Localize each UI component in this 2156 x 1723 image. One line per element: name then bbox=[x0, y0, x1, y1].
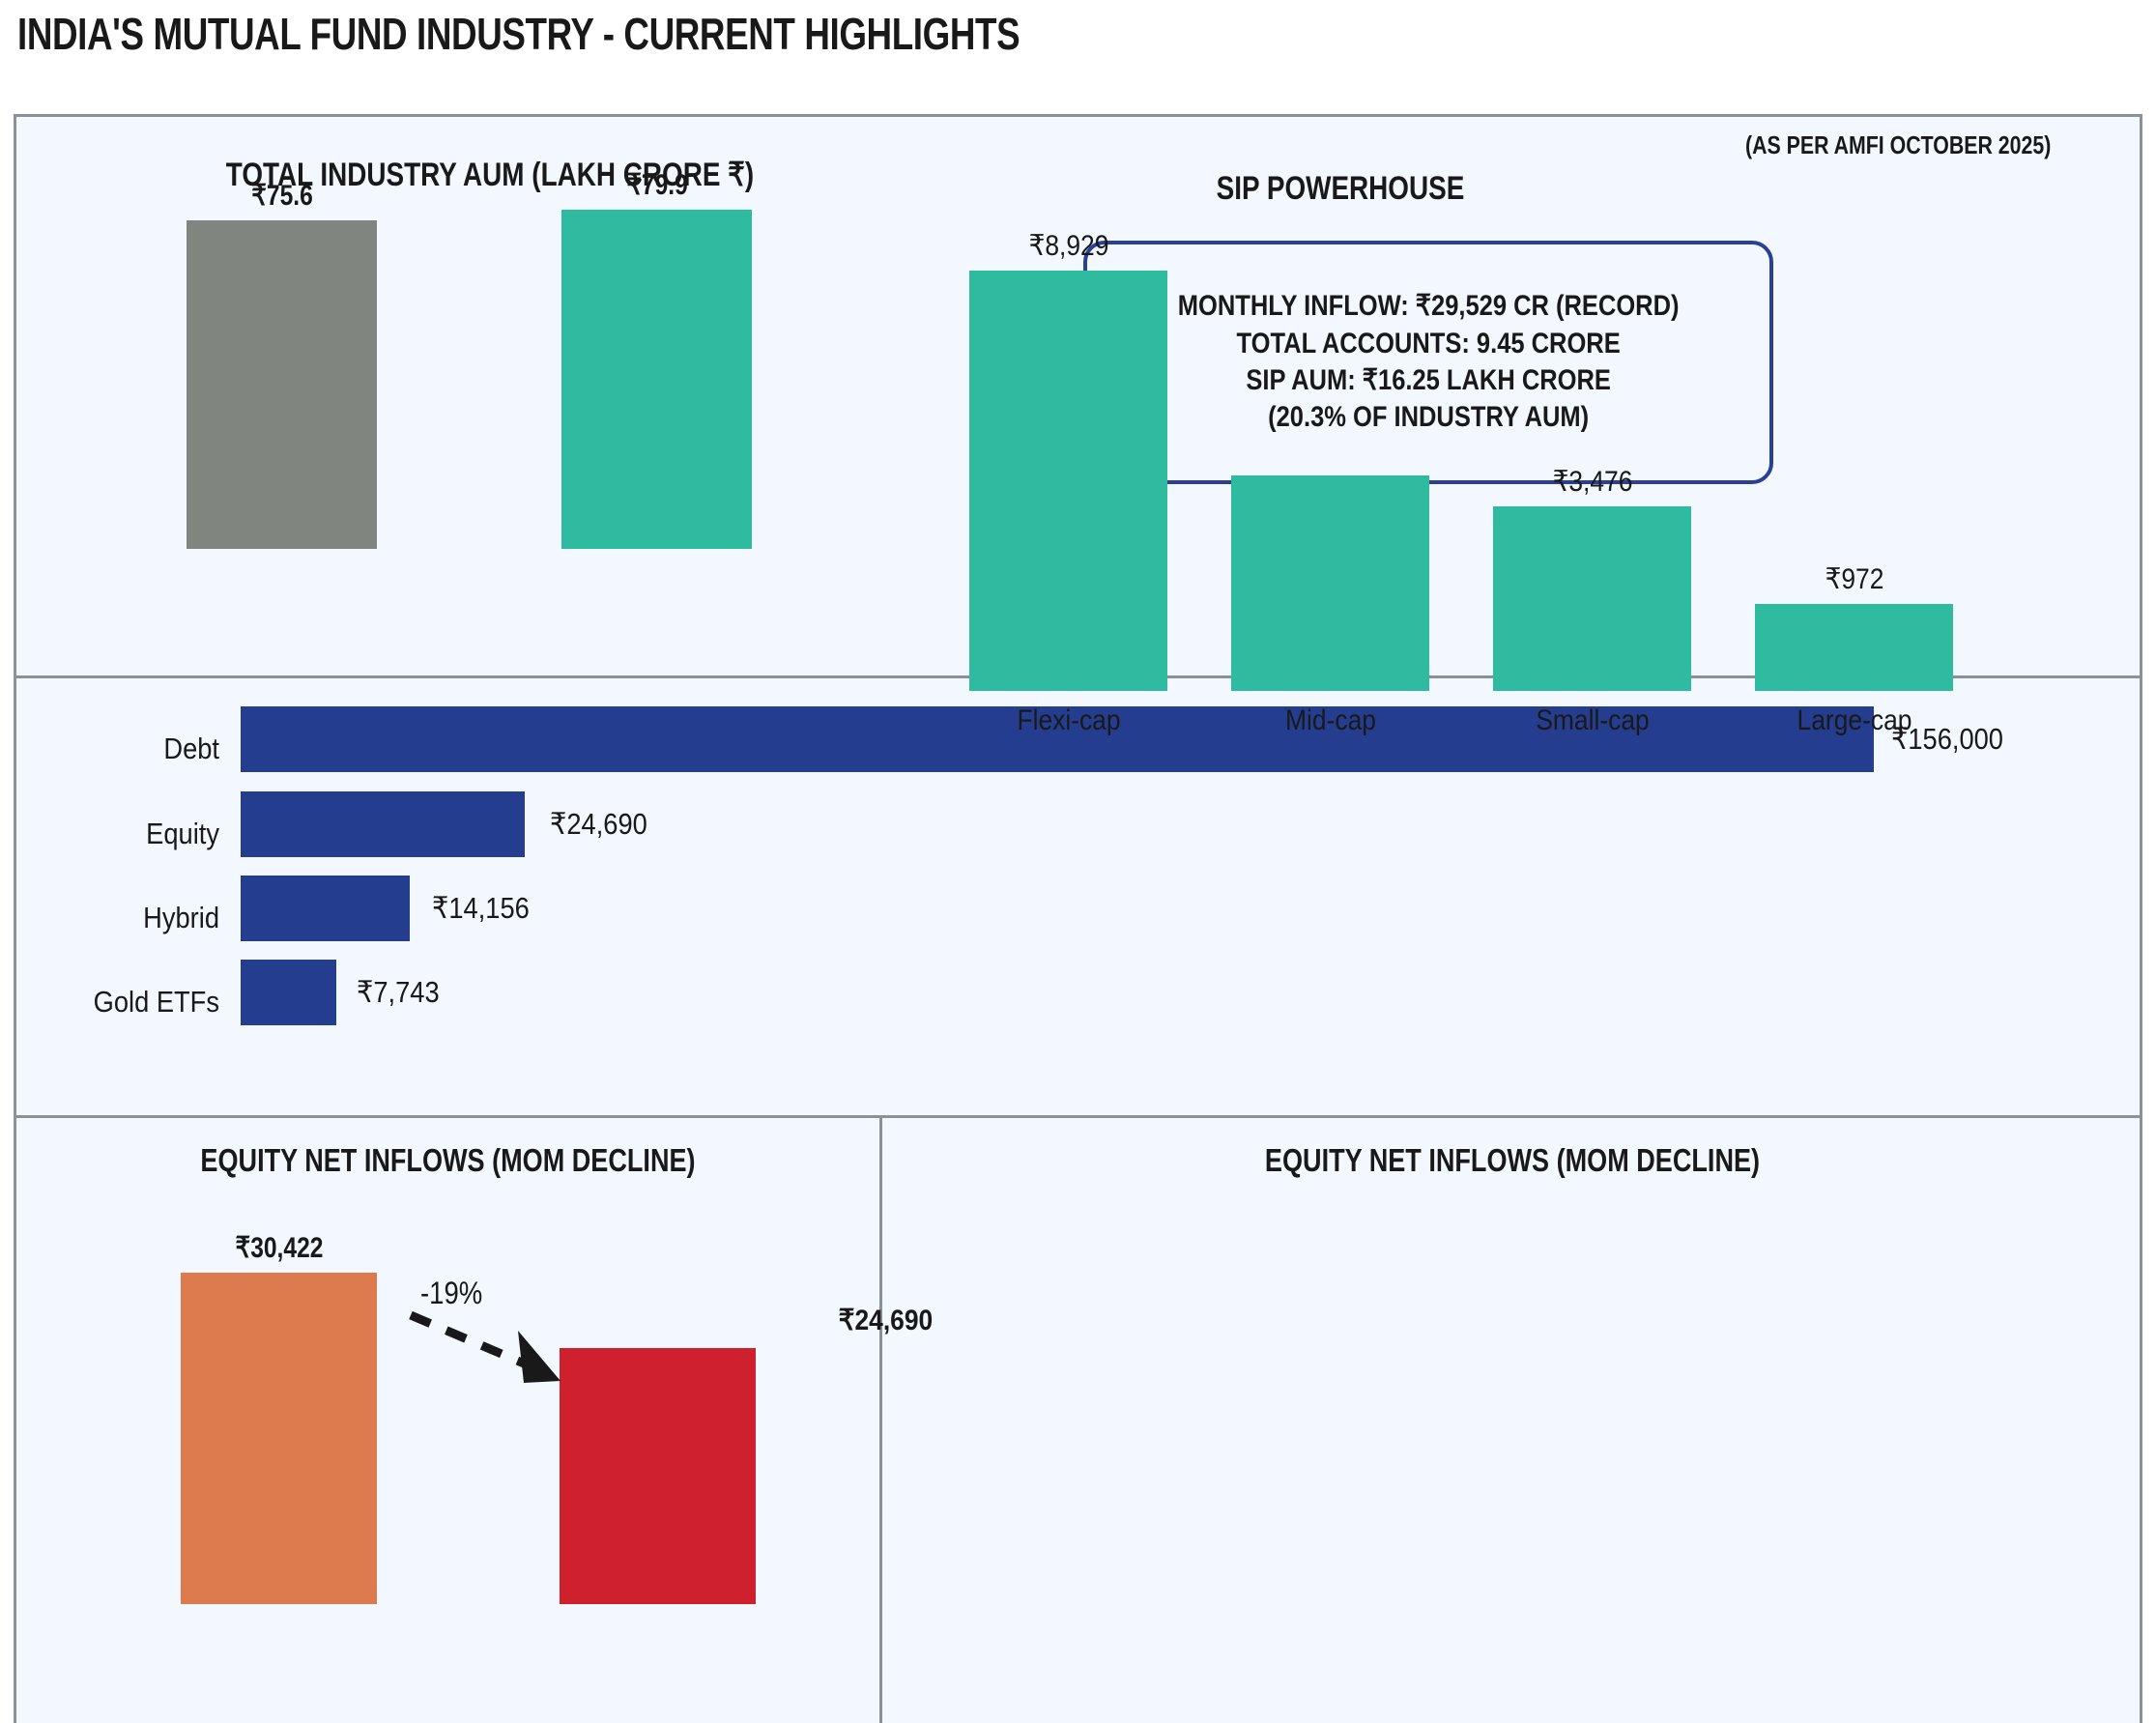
category-fill-mid-cap bbox=[1231, 475, 1429, 691]
category-bar-large-cap: ₹972 Large-cap bbox=[1755, 604, 1953, 691]
infographic-root: INDIA'S MUTUAL FUND INDUSTRY - CURRENT H… bbox=[0, 0, 2156, 1723]
category-label-mid-cap: Mid-cap bbox=[1285, 704, 1376, 737]
source-note: (AS PER AMFI OCTOBER 2025) bbox=[1745, 130, 2051, 160]
inflow-bar-equity bbox=[241, 791, 525, 857]
inflow-label-debt: Debt bbox=[41, 732, 219, 766]
aum-bar-previous-fill bbox=[187, 220, 377, 549]
content-frame: (AS PER AMFI OCTOBER 2025) TOTAL INDUSTR… bbox=[14, 114, 2142, 1723]
mom-chart-title: EQUITY NET INFLOWS (MOM DECLINE) bbox=[94, 1142, 801, 1179]
aum-bar-current-fill bbox=[561, 210, 752, 549]
inflow-row-hybrid: Hybrid ₹14,156 bbox=[16, 876, 2140, 964]
aum-chart-title: TOTAL INDUSTRY AUM (LAKH CRORE ₹) bbox=[101, 156, 878, 194]
aum-bar-current: ₹79.9 bbox=[561, 210, 752, 549]
category-label-large-cap: Large-cap bbox=[1797, 704, 1912, 737]
mom-bar-previous-value: ₹30,422 bbox=[235, 1231, 323, 1265]
category-bar-mid-cap: Mid-cap bbox=[1231, 475, 1429, 691]
aum-bar-current-value: ₹79.9 bbox=[626, 168, 688, 202]
sip-line-sip-aum: SIP AUM: ₹16.25 LAKH CRORE bbox=[1178, 362, 1680, 399]
sip-line-total-accounts: TOTAL ACCOUNTS: 9.45 CRORE bbox=[1178, 326, 1680, 362]
inflow-row-gold-etfs: Gold ETFs ₹7,743 bbox=[16, 960, 2140, 1048]
sip-line-monthly-inflow: MONTHLY INFLOW: ₹29,529 CR (RECORD) bbox=[1178, 288, 1680, 325]
inflow-value-gold-etfs: ₹7,743 bbox=[357, 975, 440, 1010]
mom-bar-previous-fill bbox=[181, 1273, 377, 1604]
page-title: INDIA'S MUTUAL FUND INDUSTRY - CURRENT H… bbox=[17, 8, 1020, 60]
category-value-small-cap: ₹3,476 bbox=[1552, 465, 1632, 499]
category-chart-title: EQUITY NET INFLOWS (MOM DECLINE) bbox=[993, 1142, 2031, 1179]
category-bar-small-cap: ₹3,476 Small-cap bbox=[1493, 506, 1691, 691]
category-value-flexi-cap: ₹8,929 bbox=[1028, 229, 1108, 263]
sip-stats-box: MONTHLY INFLOW: ₹29,529 CR (RECORD) TOTA… bbox=[1083, 241, 1773, 484]
sip-stats-lines: MONTHLY INFLOW: ₹29,529 CR (RECORD) TOTA… bbox=[1134, 288, 1723, 437]
mom-bar-current-value: ₹24,690 bbox=[839, 1304, 934, 1337]
mom-bar-previous: ₹30,422 bbox=[181, 1273, 377, 1604]
aum-bar-previous-value: ₹75.6 bbox=[251, 179, 313, 213]
sip-line-aum-share: (20.3% OF INDUSTRY AUM) bbox=[1178, 399, 1680, 436]
inflow-label-gold-etfs: Gold ETFs bbox=[41, 985, 219, 1019]
sip-section-title: SIP POWERHOUSE bbox=[1095, 170, 1586, 208]
inflow-label-hybrid: Hybrid bbox=[41, 901, 219, 935]
category-label-flexi-cap: Flexi-cap bbox=[1017, 704, 1120, 737]
decline-arrow-icon bbox=[403, 1306, 616, 1417]
category-fill-large-cap bbox=[1755, 604, 1953, 691]
panel-divider-vertical bbox=[879, 1118, 882, 1723]
inflow-value-hybrid: ₹14,156 bbox=[432, 891, 530, 926]
inflow-row-equity: Equity ₹24,690 bbox=[16, 791, 2140, 880]
panel-divider-bottom bbox=[16, 1115, 2140, 1118]
inflow-value-equity: ₹24,690 bbox=[550, 807, 647, 842]
inflow-bar-gold-etfs bbox=[241, 960, 336, 1025]
category-fill-flexi-cap bbox=[969, 271, 1167, 691]
category-value-large-cap: ₹972 bbox=[1825, 562, 1883, 596]
inflow-label-equity: Equity bbox=[41, 817, 219, 851]
aum-bar-previous: ₹75.6 bbox=[187, 220, 377, 549]
category-bar-flexi-cap: ₹8,929 Flexi-cap bbox=[969, 271, 1167, 691]
category-fill-small-cap bbox=[1493, 506, 1691, 691]
inflow-bar-hybrid bbox=[241, 876, 410, 941]
category-label-small-cap: Small-cap bbox=[1536, 704, 1649, 737]
